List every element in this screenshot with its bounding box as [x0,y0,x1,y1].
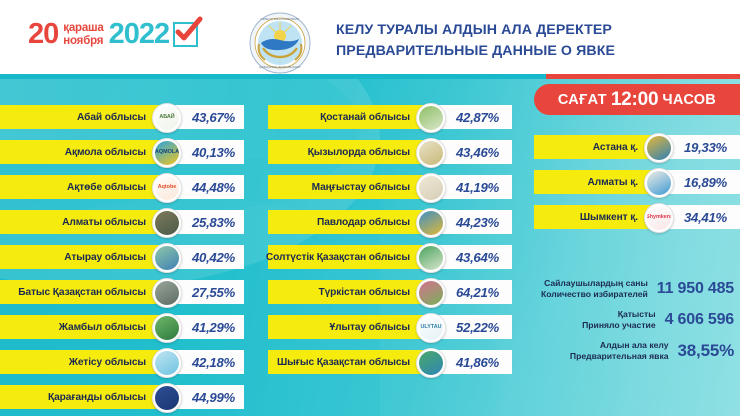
svg-text:QAZAQSTAN RESPUBLIKASY: QAZAQSTAN RESPUBLIKASY [259,65,301,69]
turnout-row: Жамбыл облысы41,29% [0,315,244,339]
mangystau-region-emblem-icon [416,173,446,203]
stat-label-ru: Приняло участие [582,320,656,331]
region-name: Абай облысы [4,105,146,129]
stat-label: ҚатыстыПриняло участие [582,309,656,331]
turnout-percent: 40,42% [192,245,235,269]
turnout-percent: 41,86% [456,350,499,374]
stat-label-ru: Предварительная явка [570,351,669,362]
stat-total-voters: Сайлаушылардың саныКоличество избирателе… [520,278,734,300]
date-month-kk: қараша [63,22,103,35]
date-month: қараша ноября [63,22,103,48]
region-name: Қызылорда облысы [272,140,410,164]
emblem-graphic [155,351,179,375]
turnout-row: Жетісу облысы42,18% [0,350,244,374]
turnout-percent: 44,99% [192,385,235,409]
kyzylorda-region-emblem-icon [416,138,446,168]
turnout-percent: 42,18% [192,350,235,374]
time-badge-suffix: ЧАСОВ [662,92,716,108]
turnout-row: Түркістан облысы64,21% [268,280,512,304]
emblem-graphic [419,281,443,305]
svg-text:ORTALYQ SAILAU KOMISSIASY: ORTALYQ SAILAU KOMISSIASY [261,17,300,21]
turnout-row: Алматы қ.16,89% [534,170,740,194]
region-name: Астана қ. [538,135,638,159]
emblem-graphic [419,106,443,130]
region-name: Батыс Қазақстан облысы [4,280,146,304]
stat-label-ru: Количество избирателей [541,289,648,300]
turkistan-region-emblem-icon [416,278,446,308]
aktobe-region-emblem-icon: Aqtobe [152,173,182,203]
turnout-percent: 43,46% [456,140,499,164]
turnout-percent: 42,87% [456,105,499,129]
page-title-ru: ПРЕДВАРИТЕЛЬНЫЕ ДАННЫЕ О ЯВКЕ [336,41,726,62]
turnout-percent: 52,22% [456,315,499,339]
turnout-row: Шымкент қ.Shymkent34,41% [534,205,740,229]
region-name: Солтүстік Қазақстан облысы [272,245,410,269]
emblem-graphic: Aqtobe [155,176,179,200]
turnout-percent: 25,83% [192,210,235,234]
time-badge: САҒАТ 12:00 ЧАСОВ [534,84,740,115]
stat-value: 38,55% [678,341,734,361]
time-badge-prefix: САҒАТ [558,92,607,108]
shymkent-city-emblem-icon: Shymkent [644,203,674,233]
turnout-percent: 34,41% [684,205,727,229]
region-name: Қостанай облысы [272,105,410,129]
ulytau-region-emblem-icon: ULYTAU [416,313,446,343]
stat-preliminary-turnout: Алдын ала келуПредварительная явка38,55% [520,340,734,362]
abai-region-emblem-icon: АБАЙ [152,103,182,133]
turnout-row: Ұлытау облысыULYTAU52,22% [268,315,512,339]
turnout-percent: 41,29% [192,315,235,339]
checkbox-checked-icon [173,22,198,47]
turnout-percent: 40,13% [192,140,235,164]
turnout-row: Маңғыстау облысы41,19% [268,175,512,199]
emblem-graphic [155,281,179,305]
date-month-ru: ноября [63,35,103,48]
zhetysu-region-emblem-icon [152,348,182,378]
stat-label: Алдын ала келуПредварительная явка [570,340,669,362]
emblem-graphic [419,246,443,270]
summary-statistics: Сайлаушылардың саныКоличество избирателе… [520,278,734,371]
time-badge-time: 12:00 [611,89,659,111]
region-name: Ұлытау облысы [272,315,410,339]
emblem-graphic [155,246,179,270]
turnout-percent: 43,67% [192,105,235,129]
turnout-percent: 19,33% [684,135,727,159]
emblem-graphic [155,316,179,340]
turnout-percent: 64,21% [456,280,499,304]
turnout-percent: 41,19% [456,175,499,199]
turnout-row: Алматы облысы25,83% [0,210,244,234]
almaty-region-emblem-icon [152,208,182,238]
turnout-infographic-poster: 20 қараша ноября 2022 QAZAQSTAN RE [0,0,740,416]
date-day: 20 [28,20,58,49]
turnout-row: Ақмола облысыAQMOLA40,13% [0,140,244,164]
emblem-graphic [419,141,443,165]
emblem-graphic: ULYTAU [419,316,443,340]
region-name: Ақмола облысы [4,140,146,164]
emblem-graphic [155,211,179,235]
region-name: Түркістан облысы [272,280,410,304]
region-name: Алматы қ. [538,170,638,194]
region-name: Жамбыл облысы [4,315,146,339]
turnout-row: Қызылорда облысы43,46% [268,140,512,164]
almaty-city-emblem-icon [644,168,674,198]
region-name: Алматы облысы [4,210,146,234]
turnout-row: Қостанай облысы42,87% [268,105,512,129]
astana-city-emblem-icon [644,133,674,163]
karaganda-region-emblem-icon [152,383,182,413]
turnout-row: Павлодар облысы44,23% [268,210,512,234]
turnout-row: Абай облысыАБАЙ43,67% [0,105,244,129]
region-name: Қарағанды облысы [4,385,146,409]
central-election-commission-seal-icon: QAZAQSTAN RESPUBLIKASY ORTALYQ SAILAU KO… [249,12,311,74]
east-kazakhstan-region-emblem-icon [416,348,446,378]
emblem-graphic: Shymkent [647,206,671,230]
turnout-row: Астана қ.19,33% [534,135,740,159]
region-name: Шығыс Қазақстан облысы [272,350,410,374]
region-name: Маңғыстау облысы [272,175,410,199]
pavlodar-region-emblem-icon [416,208,446,238]
emblem-graphic: AQMOLA [155,141,179,165]
turnout-percent: 44,48% [192,175,235,199]
kostanay-region-emblem-icon [416,103,446,133]
stat-label: Сайлаушылардың саныКоличество избирателе… [541,278,648,300]
west-kazakhstan-region-emblem-icon [152,278,182,308]
turnout-row: Солтүстік Қазақстан облысы43,64% [268,245,512,269]
turnout-percent: 44,23% [456,210,499,234]
emblem-graphic [647,136,671,160]
stat-value: 11 950 485 [657,280,734,298]
region-name: Ақтөбе облысы [4,175,146,199]
date-year: 2022 [109,20,170,49]
stat-value: 4 606 596 [665,311,734,329]
header-divider-red [546,74,740,79]
atyrau-region-emblem-icon [152,243,182,273]
emblem-graphic: АБАЙ [155,106,179,130]
stat-label-kk: Қатысты [582,309,656,320]
emblem-graphic [419,211,443,235]
region-name: Павлодар облысы [272,210,410,234]
stat-participated: ҚатыстыПриняло участие4 606 596 [520,309,734,331]
turnout-row: Қарағанды облысы44,99% [0,385,244,409]
turnout-row: Батыс Қазақстан облысы27,55% [0,280,244,304]
page-title: КЕЛУ ТУРАЛЫ АЛДЫН АЛА ДЕРЕКТЕР ПРЕДВАРИТ… [336,20,726,61]
poster-header: 20 қараша ноября 2022 QAZAQSTAN RE [0,0,740,78]
turnout-row: Атырау облысы40,42% [0,245,244,269]
turnout-percent: 16,89% [684,170,727,194]
emblem-graphic [155,386,179,410]
stat-label-kk: Алдын ала келу [570,340,669,351]
election-date: 20 қараша ноября 2022 [28,20,198,49]
page-title-kk: КЕЛУ ТУРАЛЫ АЛДЫН АЛА ДЕРЕКТЕР [336,20,726,41]
turnout-row: Шығыс Қазақстан облысы41,86% [268,350,512,374]
turnout-percent: 43,64% [456,245,499,269]
emblem-graphic [419,351,443,375]
region-name: Жетісу облысы [4,350,146,374]
stat-label-kk: Сайлаушылардың саны [541,278,648,289]
header-divider-teal [0,74,546,79]
turnout-percent: 27,55% [192,280,235,304]
region-name: Шымкент қ. [538,205,638,229]
turnout-row: Ақтөбе облысыAqtobe44,48% [0,175,244,199]
region-name: Атырау облысы [4,245,146,269]
emblem-graphic [419,176,443,200]
zhambyl-region-emblem-icon [152,313,182,343]
north-kazakhstan-region-emblem-icon [416,243,446,273]
akmola-region-emblem-icon: AQMOLA [152,138,182,168]
emblem-graphic [647,171,671,195]
